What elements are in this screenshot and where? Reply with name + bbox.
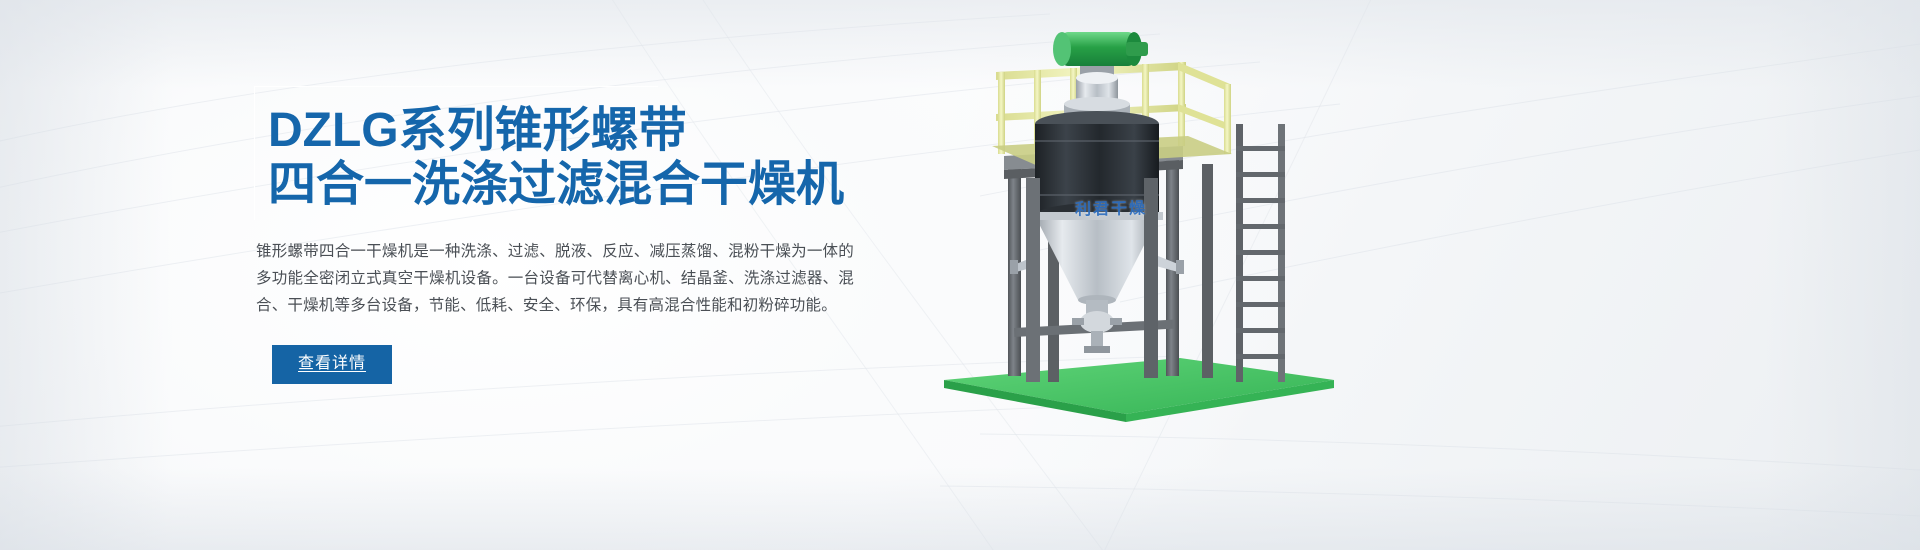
floor-pad-shape bbox=[944, 358, 1334, 422]
hero-copy: DZLG系列锥形螺带 四合一洗涤过滤混合干燥机 锥形螺带四合一干燥机是一种洗涤、… bbox=[254, 86, 894, 384]
frame-left-line bbox=[254, 86, 255, 220]
frame-top-line bbox=[254, 86, 658, 87]
title-line-1: DZLG系列锥形螺带 bbox=[268, 104, 894, 158]
access-ladder-shape bbox=[1236, 124, 1285, 382]
product-illustration bbox=[930, 28, 1350, 428]
product-description: 锥形螺带四合一干燥机是一种洗涤、过滤、脱液、反应、减压蒸馏、混粉干燥为一体的多功… bbox=[254, 238, 854, 319]
view-details-button[interactable]: 查看详情 bbox=[272, 345, 392, 384]
title-line-2: 四合一洗涤过滤混合干燥机 bbox=[268, 158, 894, 212]
vessel-body-shape bbox=[1035, 111, 1159, 229]
hero-banner: DZLG系列锥形螺带 四合一洗涤过滤混合干燥机 锥形螺带四合一干燥机是一种洗涤、… bbox=[0, 0, 1920, 550]
page-title: DZLG系列锥形螺带 四合一洗涤过滤混合干燥机 bbox=[254, 104, 894, 212]
title-frame: DZLG系列锥形螺带 四合一洗涤过滤混合干燥机 bbox=[254, 86, 894, 220]
